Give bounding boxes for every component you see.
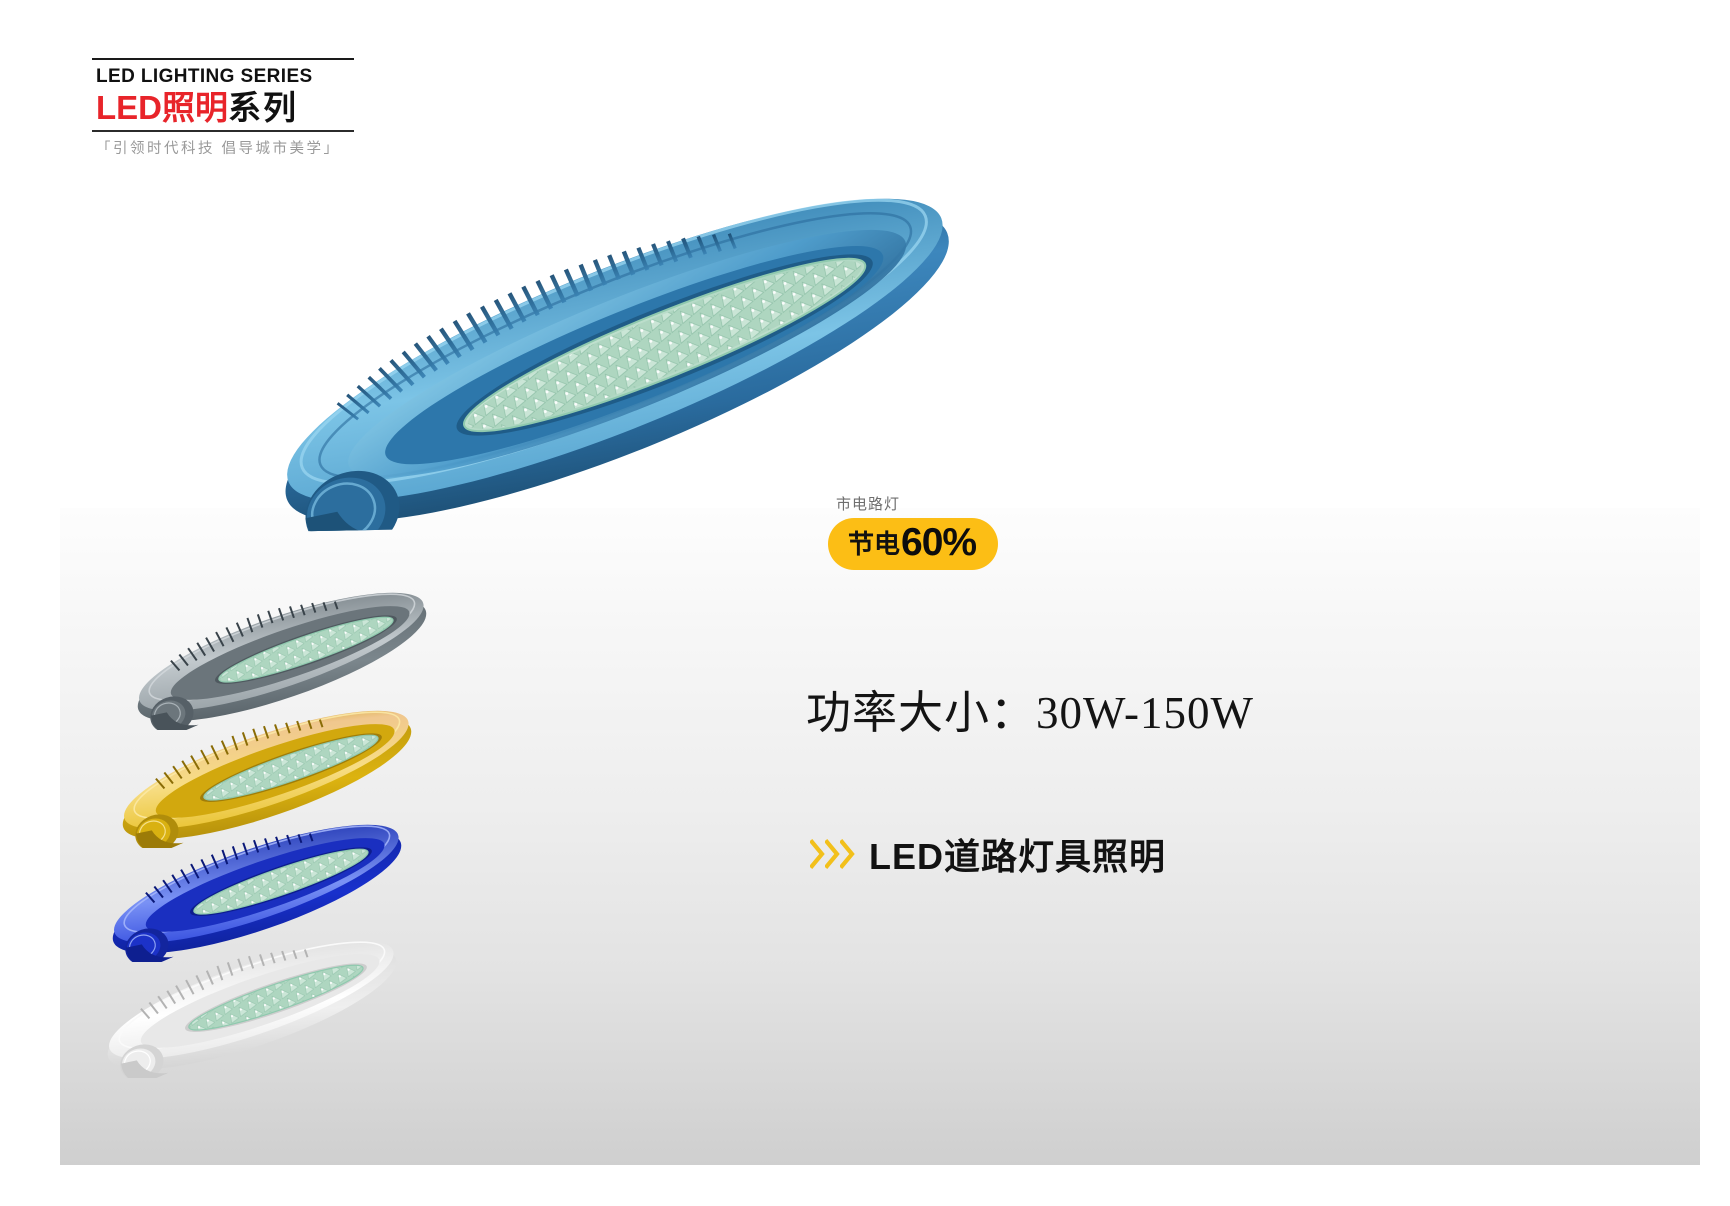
header-block: LED LIGHTING SERIES LED照明系列 「引领时代科技 倡导城市…	[92, 58, 354, 158]
header-bottom-rule	[92, 130, 354, 132]
product-tagline-row: LED道路灯具照明	[810, 828, 1166, 880]
variant-white[interactable]	[80, 928, 410, 1078]
badge-pill: 节电60%	[828, 518, 998, 570]
chevron-group	[810, 839, 855, 869]
header-title-red: LED照明	[96, 89, 228, 126]
header-chinese-title: LED照明系列	[96, 90, 354, 126]
poster-canvas: LED LIGHTING SERIES LED照明系列 「引领时代科技 倡导城市…	[0, 0, 1730, 1206]
header-subtitle: 「引领时代科技 倡导城市美学」	[96, 137, 354, 158]
hero-product-image	[193, 189, 1009, 533]
header-title-black: 系列	[228, 89, 298, 126]
product-tagline-text: LED道路灯具照明	[869, 828, 1166, 880]
badge-saving-value: 60%	[901, 523, 976, 562]
lamp-illustration-white	[80, 928, 410, 1078]
badge-caption: 市电路灯	[836, 493, 998, 514]
header-english-title: LED LIGHTING SERIES	[96, 66, 354, 88]
lamp-illustration-hero	[193, 189, 1009, 533]
badge-saving-label: 节电	[848, 531, 900, 557]
power-spec-line: 功率大小：30W-150W	[806, 676, 1254, 741]
color-variants-group	[85, 580, 465, 1080]
energy-saving-badge: 市电路灯 节电60%	[828, 493, 998, 570]
chevron-right-icon	[840, 839, 857, 869]
header-top-rule	[92, 58, 354, 60]
